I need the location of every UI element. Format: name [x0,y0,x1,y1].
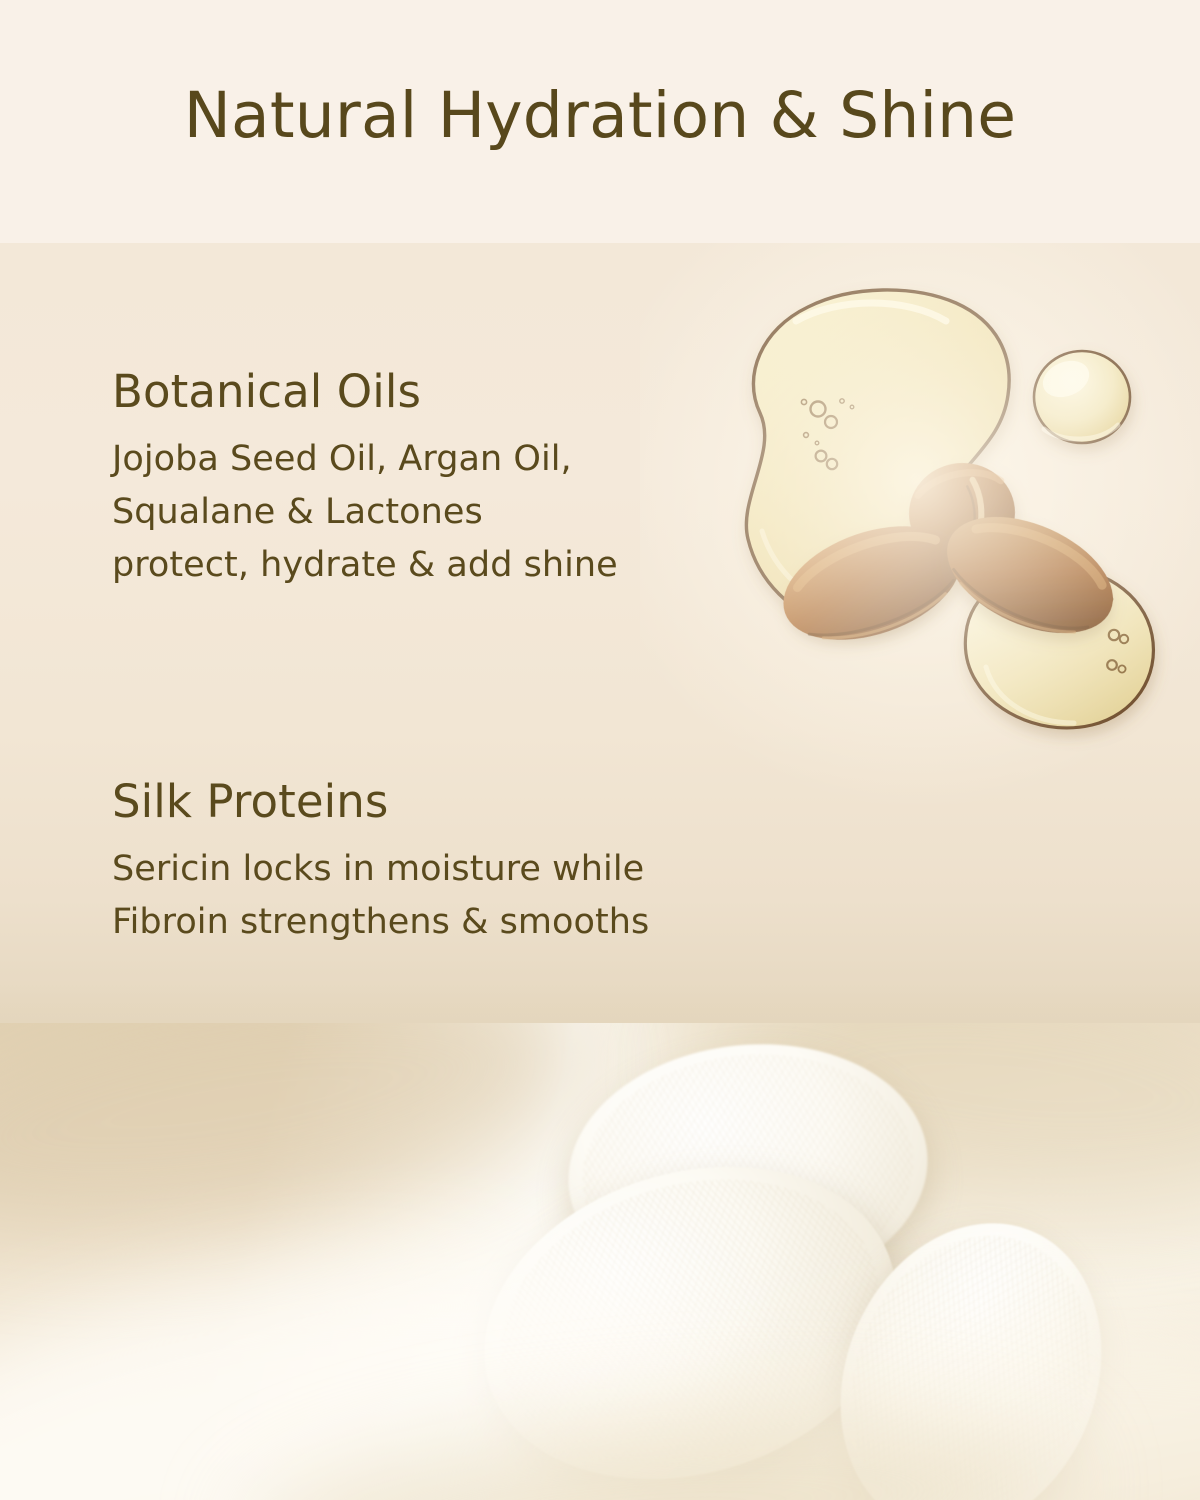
section-heading-botanical-oils: Botanical Oils [112,369,618,414]
section-line: Sericin locks in moisture while [112,843,649,896]
section-line: protect, hydrate & add shine [112,539,618,592]
fabric-fold [0,1023,594,1276]
page-title: Natural Hydration & Shine [184,81,1017,150]
section-line: Jojoba Seed Oil, Argan Oil, [112,433,618,486]
argan-oil-illustration [700,263,1200,783]
title-band: Natural Hydration & Shine [0,0,1200,243]
small-round-droplet [1034,351,1130,443]
section-silk-proteins: Silk Proteins Sericin locks in moisture … [112,779,649,949]
silk-cocoons-photo [0,1023,1200,1500]
content-band: Botanical Oils Jojoba Seed Oil, Argan Oi… [0,243,1200,1023]
section-heading-silk-proteins: Silk Proteins [112,779,649,824]
section-line: Fibroin strengthens & smooths [112,896,649,949]
section-botanical-oils: Botanical Oils Jojoba Seed Oil, Argan Oi… [112,369,618,593]
infographic-page: Natural Hydration & Shine Botanical Oils… [0,0,1200,1500]
section-line: Squalane & Lactones [112,486,618,539]
